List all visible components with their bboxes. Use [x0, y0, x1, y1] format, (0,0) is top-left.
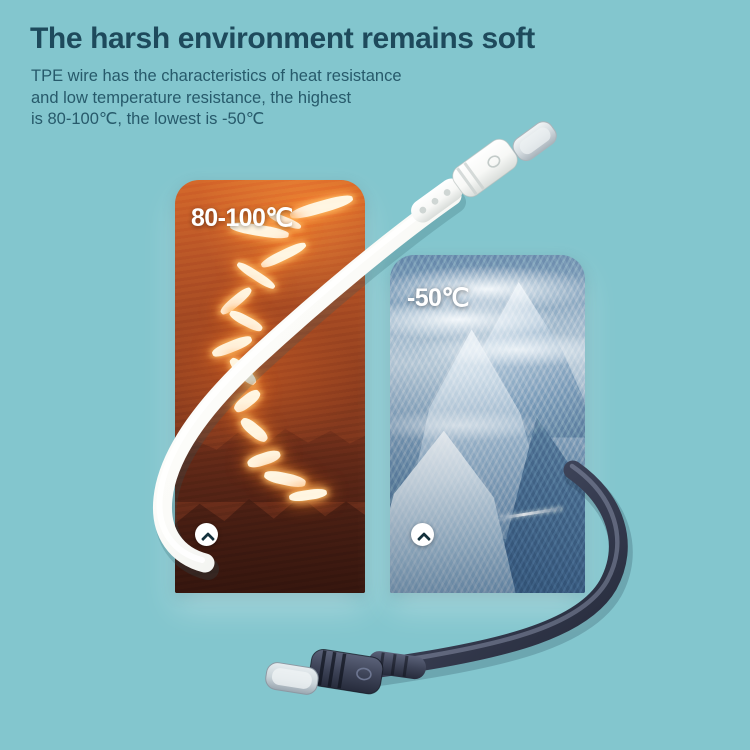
- product-feature-banner: The harsh environment remains soft TPE w…: [0, 0, 750, 750]
- hot-temperature-label: 80-100℃: [191, 203, 293, 233]
- white-usb-c-cable: [159, 118, 560, 569]
- cold-temperature-label: -50℃: [407, 283, 469, 313]
- cable-overlay: [0, 0, 750, 750]
- dark-usb-c-cable: [264, 466, 621, 696]
- chevron-up-icon[interactable]: [411, 523, 434, 546]
- chevron-up-icon[interactable]: [195, 523, 218, 546]
